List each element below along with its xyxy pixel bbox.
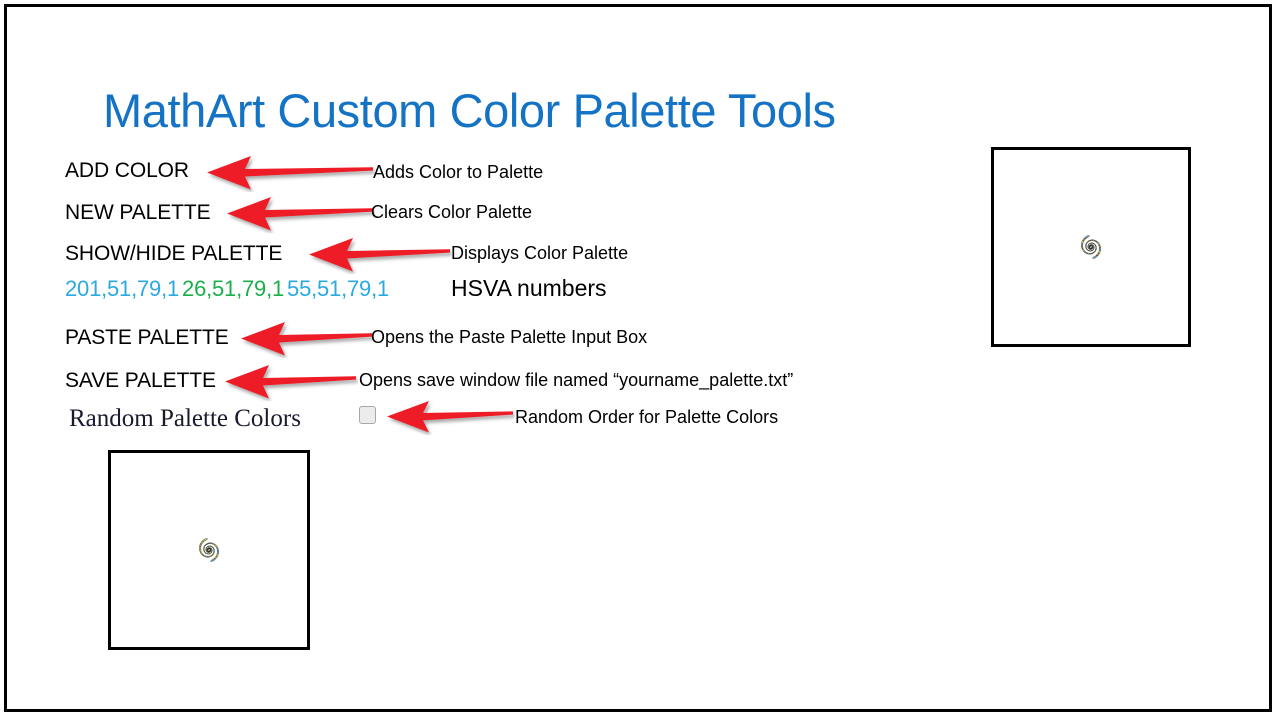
spiral-artwork-random xyxy=(108,450,310,650)
red-left-arrow-4 xyxy=(239,320,374,358)
hsva-value-1: 201,51,79,1 xyxy=(65,276,182,301)
description-add-color: Adds Color to Palette xyxy=(373,162,543,183)
spiral-svg-random xyxy=(111,453,307,647)
description-paste-palette: Opens the Paste Palette Input Box xyxy=(371,327,647,348)
hsva-legend-label: HSVA numbers xyxy=(451,275,607,302)
random-palette-colors-checkbox[interactable] xyxy=(359,406,376,424)
description-save-palette: Opens save window file named “yourname_p… xyxy=(359,370,793,391)
hsva-values-row: 201,51,79,126,51,79,155,51,79,1 xyxy=(65,276,392,302)
red-left-arrow-2 xyxy=(225,195,375,233)
description-show-hide-palette: Displays Color Palette xyxy=(451,243,628,264)
slide-canvas: MathArt Custom Color Palette Tools ADD C… xyxy=(4,4,1272,712)
red-left-arrow-1 xyxy=(205,154,375,192)
red-left-arrow-3 xyxy=(307,236,452,274)
spiral-svg-ordered xyxy=(994,150,1188,344)
red-left-arrow-5 xyxy=(223,363,358,401)
hsva-value-2: 26,51,79,1 xyxy=(182,276,287,301)
command-label-add-color[interactable]: ADD COLOR xyxy=(65,159,189,183)
command-label-save-palette[interactable]: SAVE PALETTE xyxy=(65,369,216,393)
random-palette-colors-label: Random Palette Colors xyxy=(69,405,301,433)
description-random-order: Random Order for Palette Colors xyxy=(515,407,778,428)
red-left-arrow-6 xyxy=(385,399,515,435)
page-title: MathArt Custom Color Palette Tools xyxy=(103,83,836,138)
hsva-value-3: 55,51,79,1 xyxy=(287,276,392,301)
description-new-palette: Clears Color Palette xyxy=(371,202,532,223)
command-label-show-hide-palette[interactable]: SHOW/HIDE PALETTE xyxy=(65,242,282,266)
command-label-paste-palette[interactable]: PASTE PALETTE xyxy=(65,326,229,350)
command-label-new-palette[interactable]: NEW PALETTE xyxy=(65,201,211,225)
spiral-artwork-ordered xyxy=(991,147,1191,347)
